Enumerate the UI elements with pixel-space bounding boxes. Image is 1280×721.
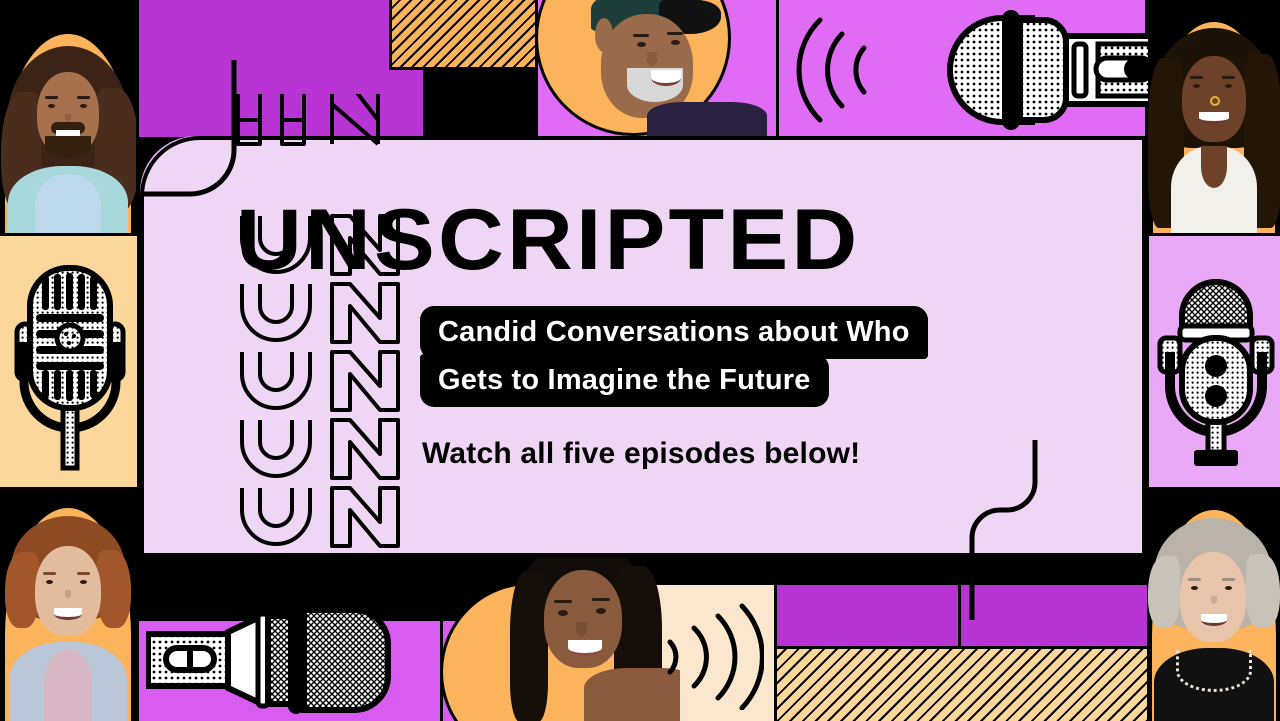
guest-photo-top-center — [535, 0, 781, 140]
guest-photo-bottom-center — [440, 540, 680, 721]
avatar — [575, 0, 725, 140]
bg-block-lightpurple-right-mic — [1146, 233, 1280, 490]
guest-photo-top-left — [0, 0, 136, 233]
cta-text: Watch all five episodes below! — [422, 437, 860, 471]
bg-block-purple-bottom-a — [774, 582, 962, 650]
hero-banner: UNSCRIPTED Candid Conversations about Wh… — [0, 0, 1280, 721]
avatar — [1148, 518, 1280, 721]
page-title: UNSCRIPTED — [236, 196, 1105, 286]
bg-block-magenta-mic-top — [776, 0, 1148, 140]
subtitle-line-1: Candid Conversations about Who — [420, 306, 928, 359]
guest-photo-top-right — [1148, 0, 1280, 233]
avatar — [5, 44, 131, 233]
guest-photo-bottom-right — [1148, 492, 1280, 721]
subtitle-line-2: Gets to Imagine the Future — [420, 354, 829, 407]
bg-block-magenta-bottom-mic — [136, 618, 444, 721]
avatar — [502, 540, 674, 721]
bg-block-purple-bottom-b — [958, 582, 1150, 650]
guest-photo-bottom-left — [0, 492, 136, 721]
avatar — [1148, 28, 1280, 233]
bg-block-hatch-top — [389, 0, 541, 70]
bg-block-hatch-bottom — [774, 646, 1150, 721]
bg-block-orange-left-mic — [0, 233, 140, 490]
decorative-un-pattern — [236, 94, 412, 564]
avatar — [5, 516, 131, 721]
